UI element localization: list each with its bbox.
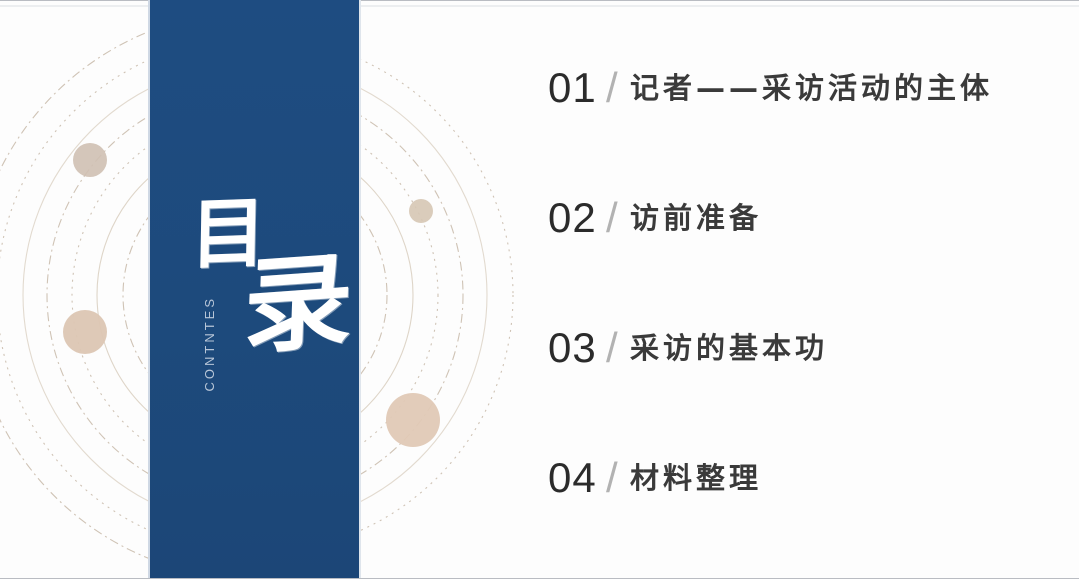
toc-separator-01: /	[606, 62, 618, 114]
orbit-dot-small-top-left	[73, 143, 107, 177]
cover-title-char-lu: 录	[242, 248, 355, 360]
blue-bar-right-edge	[359, 0, 361, 579]
orbit-dot-medium-left	[63, 310, 107, 354]
orbit-dot-small-right	[409, 199, 433, 223]
toc-item-01[interactable]: 01 / 记者——采访活动的主体	[548, 62, 1048, 192]
orbit-dot-large-right	[386, 393, 440, 447]
toc-separator-04: /	[606, 452, 618, 504]
toc-number-03: 03	[548, 322, 597, 374]
toc-number-04: 04	[548, 452, 597, 504]
toc-item-03[interactable]: 03 / 采访的基本功	[548, 322, 1048, 452]
toc-item-02[interactable]: 02 / 访前准备	[548, 192, 1048, 322]
toc-number-01: 01	[548, 62, 597, 114]
presentation-slide: 目 录 CONTNTES 01 / 记者——采访活动的主体 02 / 访前准备 …	[0, 0, 1079, 587]
toc-label-04: 材料整理	[630, 453, 762, 503]
table-of-contents-list: 01 / 记者——采访活动的主体 02 / 访前准备 03 / 采访的基本功 0…	[548, 62, 1048, 582]
toc-label-03: 采访的基本功	[630, 323, 828, 373]
toc-label-02: 访前准备	[630, 193, 762, 243]
toc-item-04[interactable]: 04 / 材料整理	[548, 452, 1048, 582]
toc-separator-03: /	[606, 322, 618, 374]
cover-title-group: 目 录 CONTNTES	[150, 0, 359, 579]
cover-subtitle-contents: CONTNTES	[202, 296, 217, 392]
toc-label-01: 记者——采访活动的主体	[630, 63, 993, 113]
toc-separator-02: /	[606, 192, 618, 244]
bottom-margin-area	[0, 579, 1079, 587]
toc-number-02: 02	[548, 192, 597, 244]
